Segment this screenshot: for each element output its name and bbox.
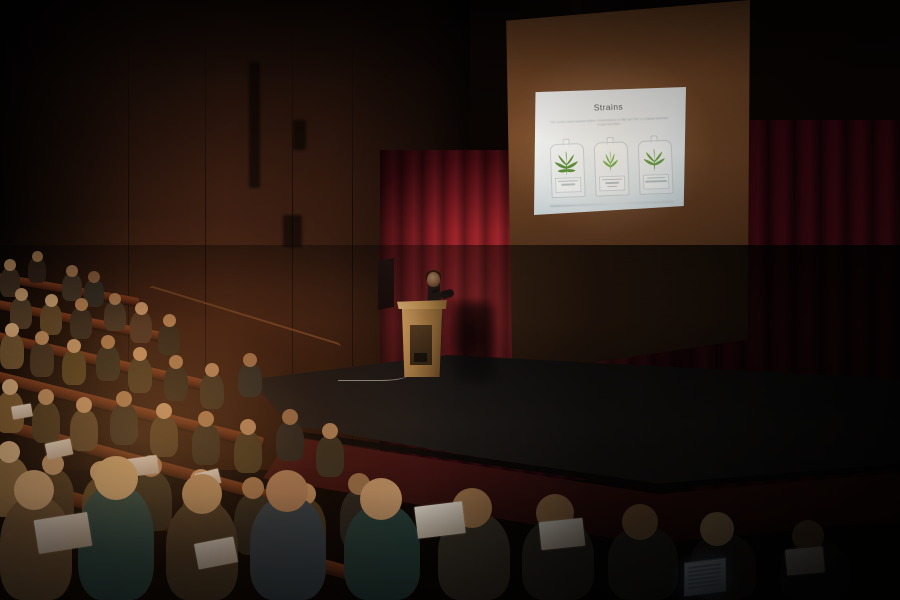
wall-door-panel (283, 215, 302, 247)
handout-paper (11, 403, 33, 419)
audience-head (14, 470, 54, 510)
audience-member (238, 363, 262, 397)
audience-head (88, 271, 100, 283)
screen-mount (572, 0, 582, 14)
audience-member (158, 323, 180, 355)
audience-laptop (684, 557, 726, 596)
audience-head (205, 363, 219, 377)
audience-member (104, 301, 126, 331)
audience-head (94, 456, 138, 500)
audience-head (282, 409, 298, 425)
audience-member (70, 409, 98, 451)
audience-member (30, 341, 54, 377)
audience-member (128, 357, 152, 393)
audience-member (164, 365, 188, 401)
audience-head (266, 470, 308, 512)
wall-fixture (293, 120, 306, 150)
audience-member (110, 403, 138, 445)
audience-head (38, 389, 54, 405)
audience-head (35, 331, 49, 345)
audience-member (234, 431, 262, 473)
audience-member (150, 415, 178, 457)
handout-paper (539, 518, 586, 550)
laptop-screen-content (688, 563, 721, 591)
audience-member (200, 373, 224, 409)
audience-head (66, 265, 78, 277)
audience-head (101, 335, 115, 349)
audience-head (116, 391, 132, 407)
audience-member (62, 273, 82, 301)
audience-head (243, 353, 257, 367)
audience-head (32, 251, 43, 262)
audience-head (76, 397, 92, 413)
audience-member (62, 349, 86, 385)
audience-head (700, 512, 734, 546)
audience-member (276, 421, 304, 461)
audience-member (32, 401, 60, 443)
audience-head (622, 504, 658, 540)
audience-head (109, 293, 121, 305)
audience-head (133, 347, 147, 361)
audience-member (96, 345, 120, 381)
audience-head (2, 379, 18, 395)
audience-head (135, 302, 148, 315)
audience-head (182, 474, 222, 514)
audience-head (242, 477, 264, 499)
audience-head (156, 403, 172, 419)
audience-head (15, 288, 28, 301)
audience-head (163, 314, 176, 327)
auditorium-photo: Strains THC content varies between strai… (0, 0, 900, 600)
audience-head (322, 423, 338, 439)
audience-member (130, 311, 152, 343)
wall-speaker-panel (249, 62, 260, 188)
audience-head (45, 294, 58, 307)
audience-head (198, 411, 214, 427)
audience-head (4, 259, 16, 271)
audience-head (67, 339, 81, 353)
audience-member (316, 435, 344, 477)
audience-member (192, 423, 220, 465)
audience-head (75, 298, 88, 311)
audience-head (169, 355, 183, 369)
audience-head (240, 419, 256, 435)
audience-member (0, 333, 24, 369)
handout-paper (785, 546, 825, 575)
audience-head (5, 323, 19, 337)
handout-paper (414, 501, 466, 539)
audience-member (70, 307, 92, 339)
audience-head (360, 478, 402, 520)
